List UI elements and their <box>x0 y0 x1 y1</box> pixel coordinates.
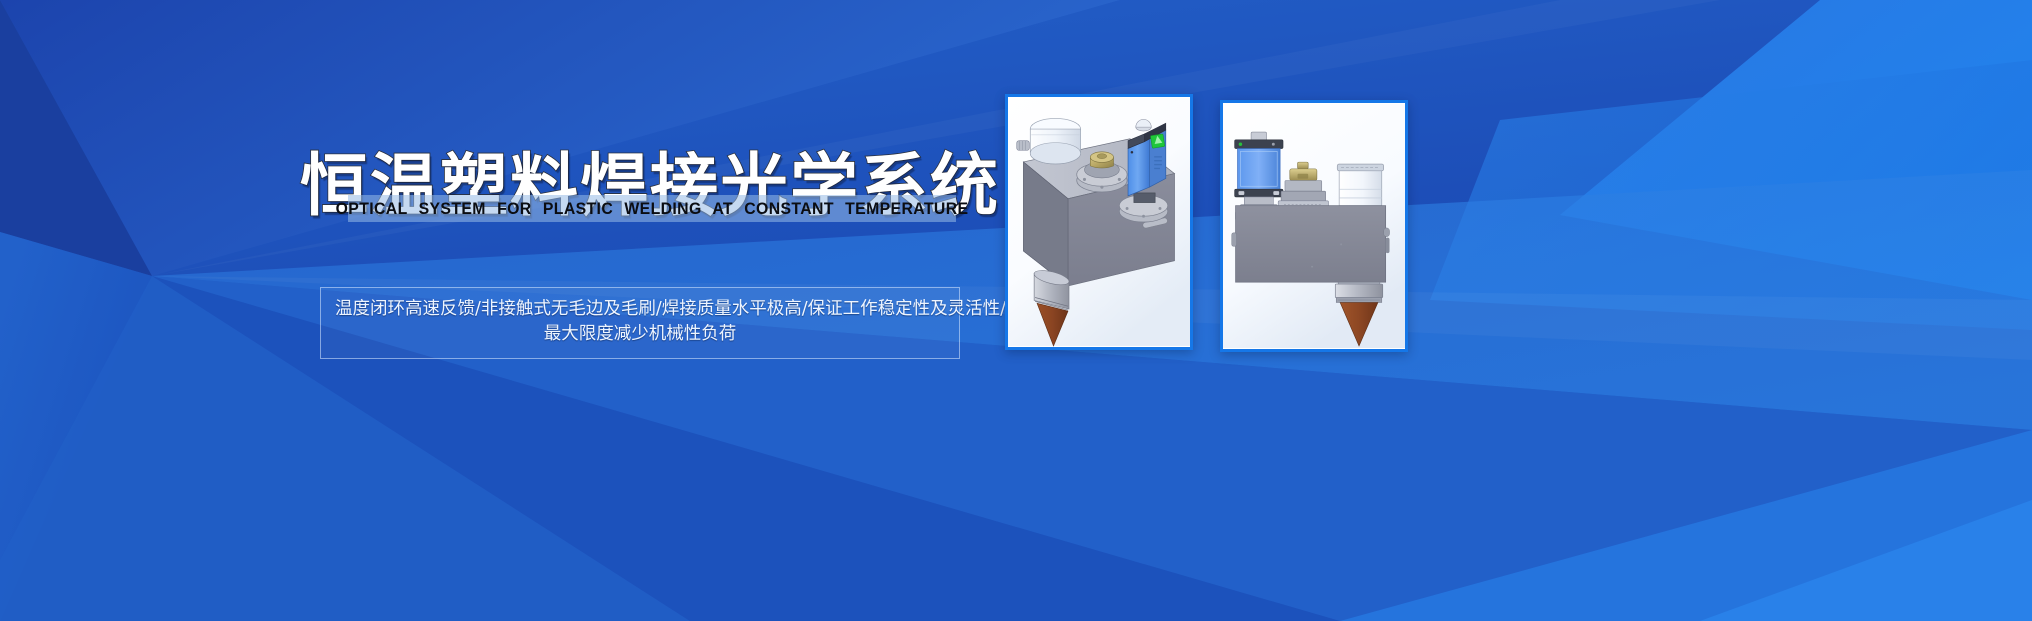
cylindrical-nozzle-housing <box>1335 282 1382 302</box>
page-title-english: OPTICAL SYSTEM FOR PLASTIC WELDING AT CO… <box>369 194 934 223</box>
product-image-card-isometric[interactable] <box>1005 94 1193 350</box>
headline-group: 恒温塑料焊接光学系统 OPTICAL SYSTEM FOR PLASTIC WE… <box>300 150 1000 300</box>
laser-welding-head-front-view-icon <box>1223 103 1405 349</box>
white-cylindrical-canister <box>1337 164 1383 206</box>
promotional-banner: 恒温塑料焊接光学系统 OPTICAL SYSTEM FOR PLASTIC WE… <box>0 0 2032 621</box>
grey-rectangular-body <box>1232 206 1390 282</box>
subtitle-line-2: 最大限度减少机械性负荷 <box>335 322 945 347</box>
subtitle-line-1: 温度闭环高速反馈/非接触式无毛边及毛刷/焊接质量水平极高/保证工作稳定性及灵活性… <box>335 297 945 322</box>
subtitle-box: 温度闭环高速反馈/非接触式无毛边及毛刷/焊接质量水平极高/保证工作稳定性及灵活性… <box>320 287 960 359</box>
laser-welding-head-isometric-icon <box>1008 97 1190 347</box>
product-image-card-front-view[interactable] <box>1220 100 1408 352</box>
